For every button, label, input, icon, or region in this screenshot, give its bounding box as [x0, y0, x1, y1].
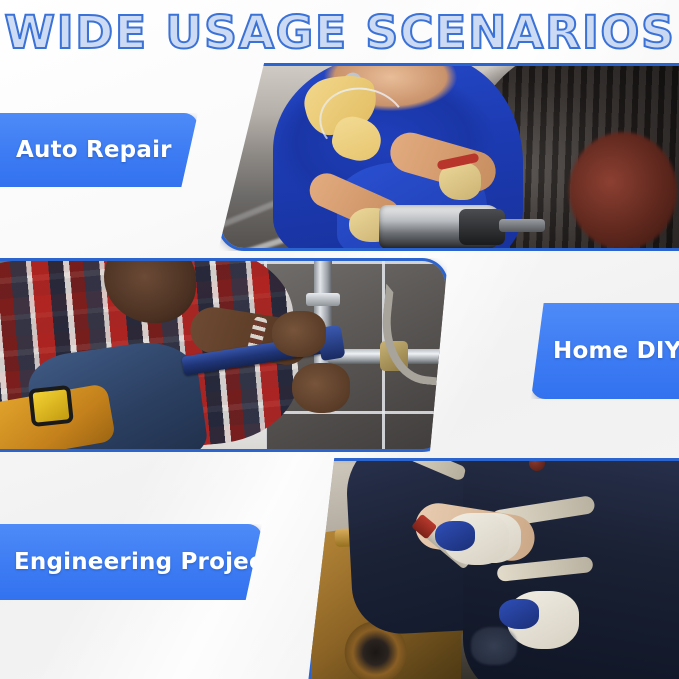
- gripped-glove-middle: [507, 591, 579, 649]
- gripped-glove-lower: [443, 513, 509, 565]
- scenario-photo-auto-repair: [218, 63, 679, 251]
- impact-wrench-socket: [499, 219, 545, 232]
- scenario-photo-home-diy: [0, 258, 448, 452]
- coverall-button: [529, 458, 545, 471]
- scenario-badge-label: Engineering Project: [14, 549, 274, 575]
- scenario-badge-engineering-project[interactable]: Engineering Project: [0, 524, 262, 600]
- impact-wrench-tool: [379, 205, 501, 249]
- wheel-hub: [569, 132, 677, 250]
- auto-repair-scene: [221, 66, 679, 248]
- scenario-badge-label: Home DIY: [553, 338, 679, 364]
- plumber-hand-lower: [292, 363, 350, 413]
- scenario-badge-label: Auto Repair: [16, 137, 172, 163]
- reflective-band: [397, 458, 467, 482]
- forearm-tattoo: [471, 627, 517, 665]
- tape-measure: [28, 385, 74, 427]
- engineering-project-scene: [311, 461, 679, 679]
- plumber-hand-upper: [272, 311, 326, 357]
- home-diy-scene: [0, 261, 445, 449]
- scenario-badge-auto-repair[interactable]: Auto Repair: [0, 113, 198, 187]
- scenario-badge-home-diy[interactable]: Home DIY: [531, 303, 679, 399]
- page-title-container: WIDE USAGE SCENARIOS: [0, 10, 679, 55]
- scenario-photo-engineering-project: [308, 458, 679, 679]
- page-title: WIDE USAGE SCENARIOS: [4, 10, 675, 55]
- work-glove-right: [439, 162, 481, 200]
- wide-usage-scenarios-poster: WIDE USAGE SCENARIOS: [0, 0, 679, 679]
- pipe-flange: [306, 293, 340, 306]
